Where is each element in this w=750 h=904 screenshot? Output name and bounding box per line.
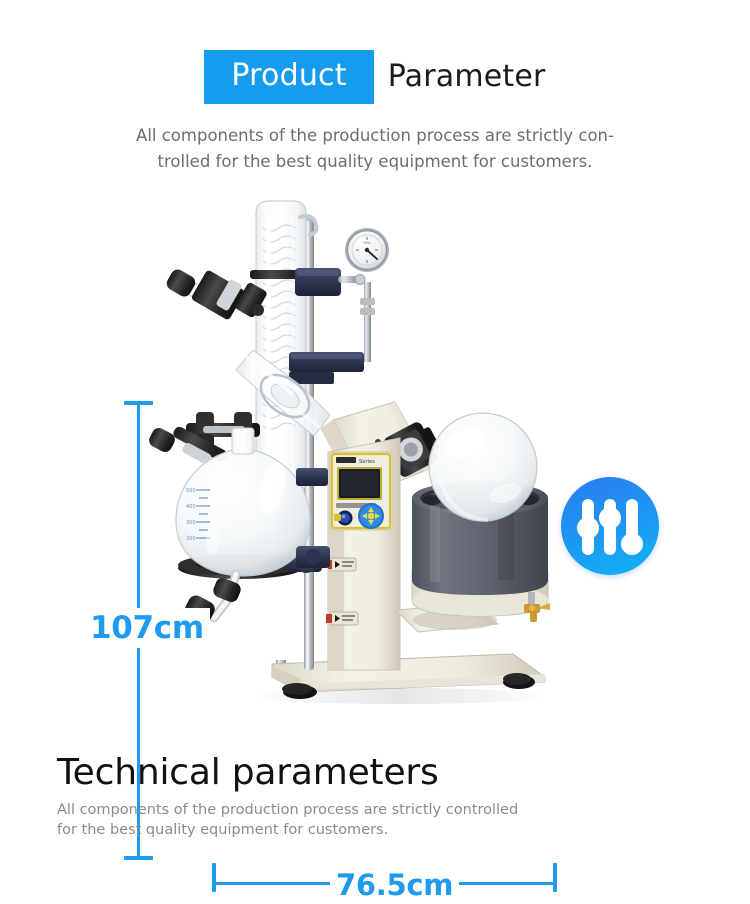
title-row: Product Parameter (0, 0, 750, 104)
rotary-evaporator-image: MPa (0, 180, 750, 740)
page-title: Parameter (388, 62, 546, 92)
sliders-icon (561, 477, 659, 575)
footer-description-line-1: All components of the production process… (57, 800, 527, 820)
product-badge: Product (204, 50, 373, 104)
slider-knob-2 (599, 507, 621, 529)
svg-text:400: 400 (186, 504, 196, 510)
svg-text:MPa: MPa (363, 241, 370, 245)
condenser (250, 201, 316, 488)
svg-text:300: 300 (186, 520, 196, 526)
height-dimension-cap-bottom (124, 856, 153, 860)
clamp-gauge-bracket (289, 352, 364, 384)
clamp-upper (295, 268, 365, 296)
footer-heading: Technical parameters (57, 753, 697, 793)
footer-section: Technical parameters All components of t… (57, 753, 697, 840)
header-subtitle-line-1: All components of the production process… (95, 123, 655, 149)
width-label: 76.5cm (330, 866, 459, 904)
svg-text:200: 200 (186, 536, 196, 542)
svg-text:500: 500 (186, 488, 196, 494)
width-dimension-cap-right (553, 863, 557, 892)
slider-knob-3 (621, 533, 643, 555)
evaporating-flask (429, 413, 537, 521)
pressure-gauge: MPa (345, 228, 389, 362)
slider-knob-1 (577, 517, 599, 539)
header-subtitle: All components of the production process… (95, 123, 655, 176)
product-parameter-page: Product Parameter All components of the … (0, 0, 750, 852)
height-dimension-cap-top (124, 401, 153, 405)
product-stage: MPa (0, 180, 750, 740)
width-dimension-cap-left (212, 863, 216, 892)
height-label: 107cm (84, 608, 210, 648)
page-header: Product Parameter All components of the … (0, 0, 750, 176)
footer-description-line-2: for the best quality equipment for custo… (57, 820, 527, 840)
svg-text:Series: Series (359, 459, 375, 465)
apparatus-svg: MPa (0, 180, 750, 740)
footer-description: All components of the production process… (57, 800, 527, 840)
header-subtitle-line-2: trolled for the best quality equipment f… (95, 149, 655, 175)
